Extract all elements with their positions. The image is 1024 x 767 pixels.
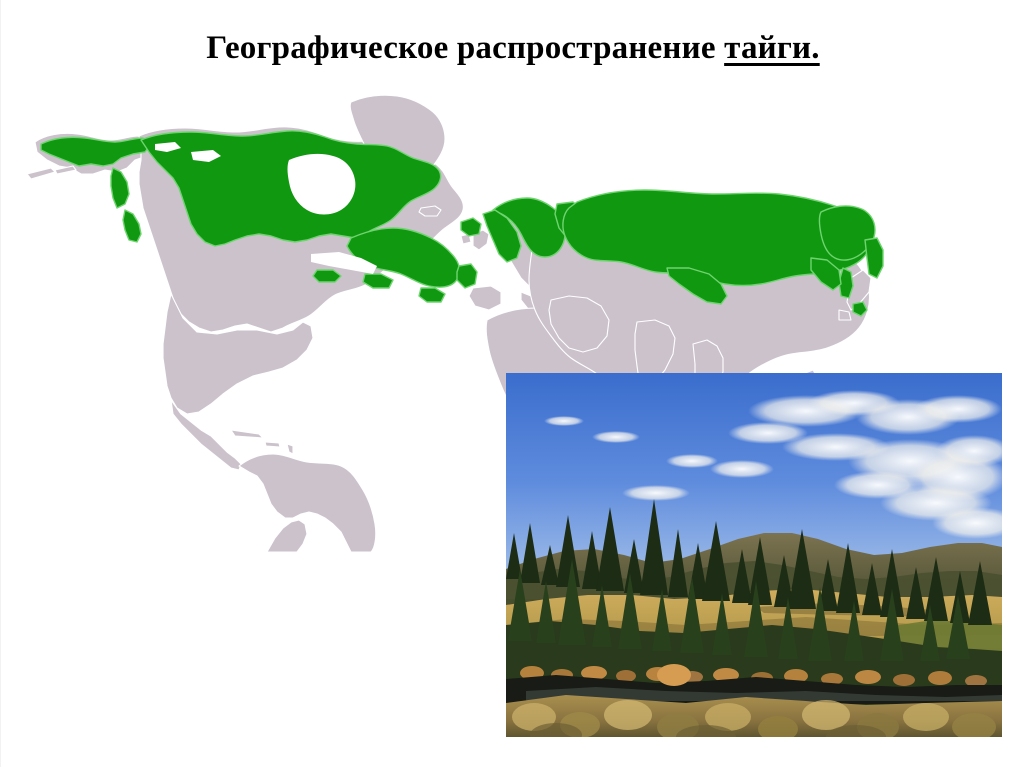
- slide-canvas: Географическое распространение тайги.: [0, 0, 1024, 767]
- taiga-photo-svg: [506, 373, 1002, 737]
- land-hispaniola: [265, 442, 280, 447]
- land-japan-south: [839, 310, 851, 320]
- page-title-main: Географическое распространение: [206, 30, 724, 66]
- page-title-emphasis: тайги.: [724, 30, 820, 66]
- photo-boulder: [657, 664, 691, 686]
- land-iceland: [419, 206, 441, 216]
- taiga-landscape-photo: [506, 373, 1002, 737]
- page-title: Географическое распространение тайги.: [1, 28, 1024, 68]
